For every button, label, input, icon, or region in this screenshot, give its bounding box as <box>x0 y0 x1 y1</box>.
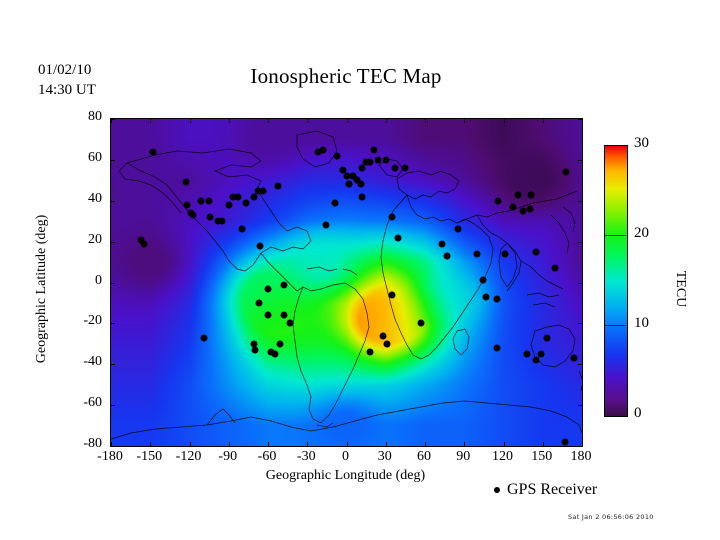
render-timestamp: Sat Jan 2 06:56:06 2010 <box>568 513 654 521</box>
x-axis-tick <box>582 442 583 446</box>
y-axis-tick <box>578 119 582 120</box>
gps-receiver-dot <box>255 299 262 306</box>
gps-receiver-dot <box>514 191 521 198</box>
gps-receiver-dot <box>357 181 364 188</box>
legend-label: GPS Receiver <box>507 481 597 499</box>
gps-receiver-dot <box>207 214 214 221</box>
gps-receiver-dot <box>251 346 258 353</box>
x-axis-tick-label: 180 <box>551 449 611 465</box>
legend: GPS Receiver <box>494 481 597 499</box>
x-axis-tick <box>504 119 505 123</box>
colorbar-tick <box>604 325 626 326</box>
y-axis-tick <box>578 242 582 243</box>
gps-receiver-dot <box>265 285 272 292</box>
gps-receiver-dot <box>219 218 226 225</box>
map-plot-area <box>110 118 583 447</box>
gps-receiver-dot <box>331 199 338 206</box>
gps-receiver-dot <box>533 357 540 364</box>
gps-receiver-dot <box>374 156 381 163</box>
x-axis-tick <box>464 119 465 123</box>
x-axis-tick <box>347 442 348 446</box>
gps-receiver-dot <box>140 240 147 247</box>
gps-receiver-dot <box>238 226 245 233</box>
colorbar-title: TECU <box>672 229 688 349</box>
gps-receiver-dot <box>495 197 502 204</box>
gps-receiver-dot <box>287 320 294 327</box>
y-axis-tick <box>111 119 115 120</box>
colorbar-tick <box>604 235 626 236</box>
gps-receiver-dot <box>538 351 545 358</box>
y-axis-tick <box>111 160 115 161</box>
gps-receiver-dot <box>543 334 550 341</box>
gps-receiver-dot <box>389 214 396 221</box>
gps-receiver-dot <box>206 197 213 204</box>
y-axis-tick <box>578 160 582 161</box>
gps-receiver-dot <box>359 165 366 172</box>
gps-receiver-dot <box>479 277 486 284</box>
gps-receiver-dot <box>367 348 374 355</box>
gps-receiver-dot <box>527 191 534 198</box>
y-axis-tick <box>111 364 115 365</box>
x-axis-tick <box>190 119 191 123</box>
x-axis-tick <box>229 442 230 446</box>
y-axis-tick-label: -40 <box>58 354 102 370</box>
x-axis-tick <box>268 119 269 123</box>
x-axis-tick <box>543 119 544 123</box>
gps-receiver-dot <box>483 293 490 300</box>
gps-receiver-dot <box>380 332 387 339</box>
filled-circle-icon <box>494 487 500 493</box>
x-axis-tick <box>425 442 426 446</box>
gps-receiver-dot <box>275 183 282 190</box>
gps-receiver-dot <box>359 193 366 200</box>
x-axis-tick <box>347 119 348 123</box>
y-axis-tick-label: -80 <box>58 436 102 452</box>
colorbar <box>604 145 628 417</box>
gps-receiver-dot <box>526 205 533 212</box>
gps-receiver-dot <box>454 226 461 233</box>
x-axis-tick <box>150 442 151 446</box>
gps-receiver-dot <box>265 312 272 319</box>
gps-receiver-dot <box>561 438 568 445</box>
x-axis-tick <box>268 442 269 446</box>
y-axis-tick <box>578 201 582 202</box>
gps-receiver-dot <box>402 165 409 172</box>
y-axis-tick <box>111 283 115 284</box>
gps-receiver-dot <box>182 179 189 186</box>
gps-receiver-dot <box>533 248 540 255</box>
gps-receiver-dot <box>271 351 278 358</box>
gps-receiver-dot <box>493 295 500 302</box>
x-axis-tick <box>190 442 191 446</box>
y-axis-tick-label: 0 <box>58 273 102 289</box>
gps-receiver-dot <box>474 250 481 257</box>
gps-receiver-dot <box>444 252 451 259</box>
gps-receiver-dot <box>439 240 446 247</box>
gps-receiver-dot <box>276 340 283 347</box>
gps-receiver-dot <box>367 158 374 165</box>
gps-receiver-dot <box>250 340 257 347</box>
gps-receiver-dot <box>242 199 249 206</box>
gps-receiver-dot <box>198 197 205 204</box>
gps-receiver-dot <box>382 156 389 163</box>
gps-receiver-dot <box>183 201 190 208</box>
x-axis-tick <box>464 442 465 446</box>
x-axis-tick <box>307 442 308 446</box>
gps-receiver-dot <box>334 152 341 159</box>
y-axis-tick <box>578 323 582 324</box>
y-axis-tick-label: 80 <box>58 109 102 125</box>
gps-receiver-dot <box>391 165 398 172</box>
y-axis-tick-label: 60 <box>58 150 102 166</box>
x-axis-tick <box>386 442 387 446</box>
gps-receiver-dot <box>234 193 241 200</box>
gps-receiver-dot <box>190 212 197 219</box>
gps-receiver-dot <box>493 344 500 351</box>
x-axis-tick <box>307 119 308 123</box>
y-axis-tick <box>111 405 115 406</box>
y-axis-tick <box>578 283 582 284</box>
gps-receiver-dot <box>319 146 326 153</box>
colorbar-tick-label: 30 <box>634 135 649 152</box>
gps-receiver-dot <box>551 265 558 272</box>
colorbar-tick-label: 10 <box>634 315 649 332</box>
gps-receiver-dot <box>280 281 287 288</box>
y-axis-tick <box>111 323 115 324</box>
gps-receiver-dot <box>200 334 207 341</box>
gps-receiver-dot <box>250 193 257 200</box>
tec-map-figure: 01/02/10 14:30 UT Ionospheric TEC Map <box>0 0 720 540</box>
x-axis-tick <box>386 119 387 123</box>
x-axis-tick <box>425 119 426 123</box>
gps-receiver-dot <box>571 355 578 362</box>
gps-receiver-dot <box>384 340 391 347</box>
gps-receiver-dot <box>501 250 508 257</box>
gps-receiver-dot <box>259 187 266 194</box>
gps-receiver-dot <box>418 320 425 327</box>
y-axis-tick <box>578 446 582 447</box>
gps-receiver-dot <box>394 234 401 241</box>
y-axis-tick <box>111 446 115 447</box>
x-axis-tick <box>582 119 583 123</box>
colorbar-tick-label: 20 <box>634 225 649 242</box>
gps-receiver-dot <box>389 291 396 298</box>
y-axis-title: Geographic Latitude (deg) <box>34 169 50 409</box>
gps-receiver-dot <box>524 351 531 358</box>
colorbar-tick-label: 0 <box>634 405 642 422</box>
y-axis-tick <box>578 364 582 365</box>
gps-receiver-dot <box>346 181 353 188</box>
y-axis-tick <box>111 242 115 243</box>
x-axis-tick <box>229 119 230 123</box>
gps-receiver-dot <box>322 222 329 229</box>
page-title: Ionospheric TEC Map <box>110 64 582 89</box>
gps-receiver-markers <box>111 119 582 446</box>
gps-receiver-dot <box>370 146 377 153</box>
gps-receiver-dot <box>563 169 570 176</box>
x-axis-tick <box>543 442 544 446</box>
y-axis-tick-label: 40 <box>58 191 102 207</box>
y-axis-tick-label: -60 <box>58 395 102 411</box>
gps-receiver-dot <box>257 242 264 249</box>
x-axis-tick <box>504 442 505 446</box>
y-axis-tick <box>578 405 582 406</box>
x-axis-tick <box>150 119 151 123</box>
gps-receiver-dot <box>225 201 232 208</box>
gps-receiver-dot <box>509 203 516 210</box>
gps-receiver-dot <box>149 148 156 155</box>
y-axis-tick <box>111 201 115 202</box>
y-axis-tick-label: 20 <box>58 232 102 248</box>
y-axis-tick-label: -20 <box>58 313 102 329</box>
gps-receiver-dot <box>280 312 287 319</box>
